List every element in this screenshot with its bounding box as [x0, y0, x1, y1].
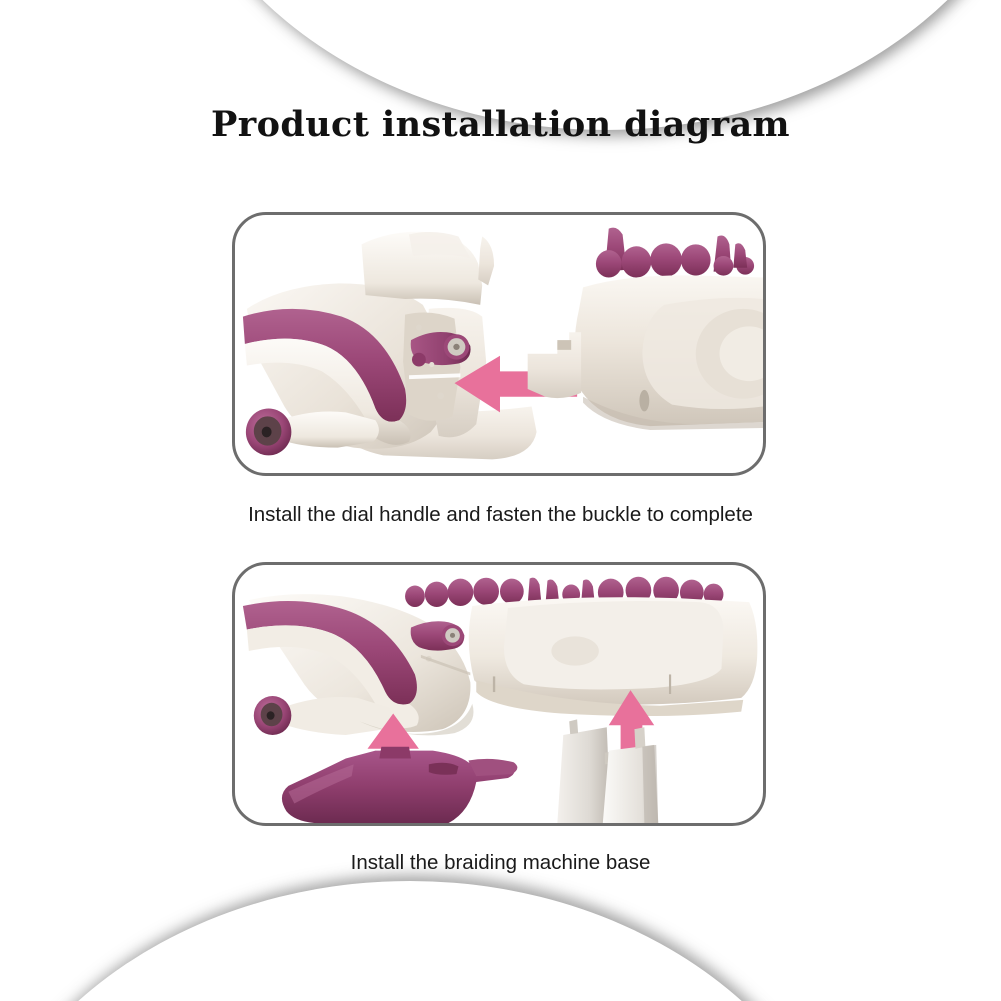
hook-5: [681, 244, 711, 275]
assembled-machine: [243, 577, 757, 736]
oval-panel-button: [551, 636, 598, 665]
step-2-image-panel: [232, 562, 766, 826]
base-cradle-slot: [429, 763, 459, 775]
stand-leg-left: [557, 727, 610, 823]
hook-2: [596, 250, 622, 277]
hook-b: [425, 582, 449, 607]
handle-fin: [478, 237, 494, 286]
step-2-caption: Install the braiding machine base: [0, 851, 1001, 875]
hook-3: [622, 246, 652, 277]
handle-screw-dot-2: [437, 392, 444, 399]
bottom-corner-curve-decoration: [0, 881, 860, 1001]
page-title: Product installation diagram: [0, 104, 1001, 145]
step-1-caption: Install the dial handle and fasten the b…: [0, 503, 1001, 527]
handle-screw-dot-1: [416, 324, 422, 330]
machine-screw-center: [450, 633, 455, 638]
buckle-pivot: [412, 353, 426, 367]
hook-a: [405, 586, 425, 608]
step-1-image-panel: [232, 212, 766, 476]
handle-screw-dot-3: [429, 362, 434, 367]
machine-oval-panel: [504, 601, 724, 689]
handle-cowl-highlight: [409, 232, 470, 258]
dial-handle-assembly: [243, 232, 537, 460]
purple-base-cradle: [282, 747, 517, 823]
buckle-latch: [411, 332, 471, 367]
base-cradle-tab: [379, 747, 411, 759]
hook-9: [733, 243, 747, 268]
hook-d: [473, 578, 499, 605]
hook-e: [500, 579, 524, 604]
machine-buckle-latch: [411, 621, 465, 650]
purple-hooks: [596, 228, 754, 278]
stand-leg-right-pin: [634, 727, 645, 749]
step-1-illustration: [235, 215, 763, 473]
drum-mating-tab: [528, 332, 581, 398]
drum-pin-hole: [639, 390, 649, 412]
hook-c: [448, 579, 474, 606]
product-installation-page: Product installation diagram: [0, 0, 1001, 1001]
drum-notch: [557, 340, 571, 350]
crank-knob-hole: [262, 427, 272, 438]
buckle-screw-center: [453, 344, 459, 350]
stand-leg-right-shade: [642, 745, 658, 823]
stand-leg-left-pin: [569, 719, 578, 734]
hook-4: [650, 243, 682, 276]
stand-legs: [557, 719, 658, 823]
step-2-illustration: [235, 565, 763, 823]
hook-7: [714, 256, 734, 276]
base-cradle-wing: [468, 759, 517, 776]
machine-knob-hole: [267, 711, 275, 720]
needle-drum-assembly: [528, 228, 763, 430]
